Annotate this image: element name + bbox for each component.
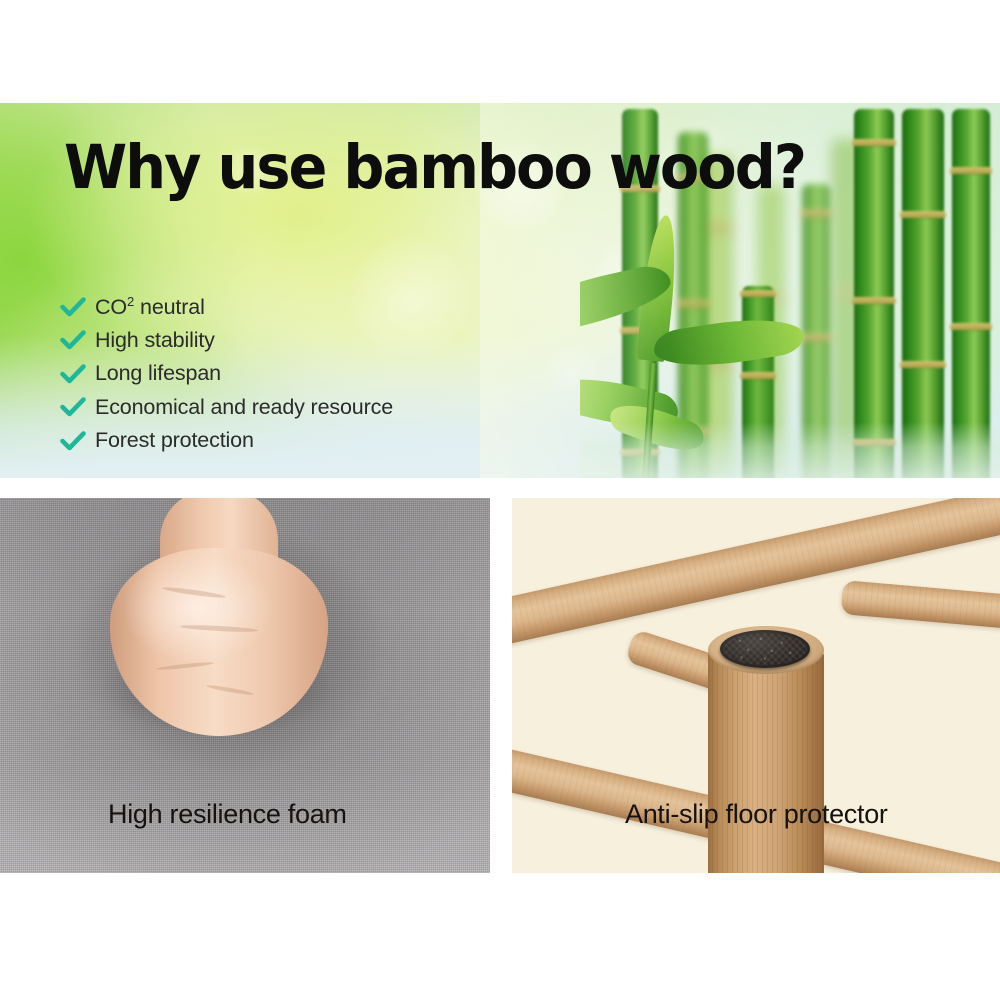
list-item-label: Economical and ready resource <box>95 395 393 420</box>
list-item-label: High stability <box>95 328 215 353</box>
list-item: Economical and ready resource <box>60 391 393 425</box>
bamboo-leg-post <box>708 650 824 873</box>
list-item-label: CO2 neutral <box>95 294 205 320</box>
foam-panel-caption: High resilience foam <box>108 799 347 830</box>
check-icon <box>60 396 86 418</box>
hand-pressing-foam <box>104 498 334 760</box>
page-title: Why use bamboo wood? <box>64 137 805 198</box>
protector-panel-caption: Anti-slip floor protector <box>625 799 888 830</box>
anti-slip-pad-texture <box>723 633 807 665</box>
bamboo-leaf <box>651 310 806 375</box>
check-icon <box>60 329 86 351</box>
benefits-list: CO2 neutral High stability Long lifespan… <box>60 290 393 458</box>
list-item-label: Forest protection <box>95 428 254 453</box>
list-item: Long lifespan <box>60 357 393 391</box>
product-feature-image: Why use bamboo wood? CO2 neutral High st… <box>0 0 1000 1000</box>
anti-slip-pad <box>720 630 810 668</box>
check-icon <box>60 363 86 385</box>
bamboo-rail-cross-right <box>841 580 1000 630</box>
list-item: High stability <box>60 324 393 358</box>
list-item: Forest protection <box>60 424 393 458</box>
check-icon <box>60 296 86 318</box>
list-item: CO2 neutral <box>60 290 393 324</box>
check-icon <box>60 430 86 452</box>
list-item-label: Long lifespan <box>95 361 221 386</box>
